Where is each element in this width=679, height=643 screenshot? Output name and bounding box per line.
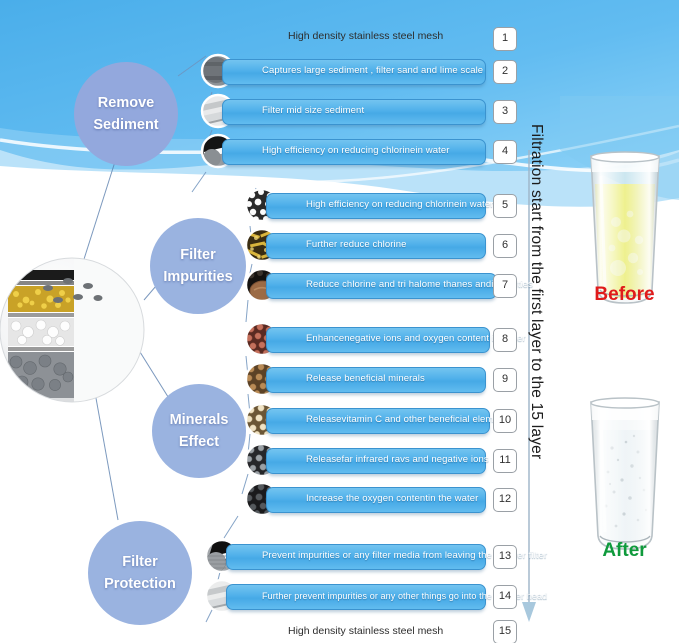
layer-5-number: 5 bbox=[493, 194, 517, 218]
layer-15-number: 15 bbox=[493, 620, 517, 643]
label-before: Before bbox=[570, 284, 679, 306]
layer-row-3[interactable]: Filter mid size sediment bbox=[222, 99, 484, 123]
layer-10-label: Releasevitamin C and other beneficial el… bbox=[306, 408, 512, 432]
layer-row-13[interactable]: Prevent impurities or any filter media f… bbox=[226, 544, 484, 568]
layer-14-number: 14 bbox=[493, 585, 517, 609]
layer-1-label: High density stainless steel mesh bbox=[288, 30, 443, 42]
layer-row-5[interactable]: High efficiency on reducing chlorinein w… bbox=[266, 193, 484, 217]
layer-9-number: 9 bbox=[493, 368, 517, 392]
layer-12-label: Increase the oxygen contentin the water bbox=[306, 487, 478, 511]
layer-3-label: Filter mid size sediment bbox=[262, 99, 364, 123]
layer-row-4[interactable]: High efficiency on reducing chlorinein w… bbox=[222, 139, 484, 163]
layer-9-label: Release beneficial minerals bbox=[306, 367, 425, 391]
infographic-canvas: Remove Sediment Filter Impurities Minera… bbox=[0, 0, 679, 643]
layer-11-label: Releasefar infrared ravs and negative io… bbox=[306, 448, 489, 472]
layer-2-label: Captures large sediment , filter sand an… bbox=[262, 59, 483, 83]
layer-row-8[interactable]: Enhancenegative ions and oxygen content … bbox=[266, 327, 488, 351]
layer-10-number: 10 bbox=[493, 409, 517, 433]
layer-4-number: 4 bbox=[493, 140, 517, 164]
layer-row-10[interactable]: Releasevitamin C and other beneficial el… bbox=[266, 408, 488, 432]
layer-13-number: 13 bbox=[493, 545, 517, 569]
layer-2-number: 2 bbox=[493, 60, 517, 84]
layer-row-7[interactable]: Reduce chlorine and tri halome thanes an… bbox=[266, 273, 495, 297]
label-after: After bbox=[570, 540, 679, 562]
layer-row-11[interactable]: Releasefar infrared ravs and negative io… bbox=[266, 448, 484, 472]
layer-7-number: 7 bbox=[493, 274, 517, 298]
filtration-flow-label: Filtration start from the first layer to… bbox=[527, 124, 545, 459]
layer-8-number: 8 bbox=[493, 328, 517, 352]
layer-4-label: High efficiency on reducing chlorinein w… bbox=[262, 139, 449, 163]
layer-11-number: 11 bbox=[493, 449, 517, 473]
layer-6-number: 6 bbox=[493, 234, 517, 258]
layer-12-number: 12 bbox=[493, 488, 517, 512]
layer-row-14[interactable]: Further prevent impurities or any other … bbox=[226, 584, 484, 608]
layer-3-number: 3 bbox=[493, 100, 517, 124]
layer-row-2[interactable]: Captures large sediment , filter sand an… bbox=[222, 59, 484, 83]
layer-row-6[interactable]: Further reduce chlorine bbox=[266, 233, 484, 257]
layer-6-label: Further reduce chlorine bbox=[306, 233, 407, 257]
layer-row-9[interactable]: Release beneficial minerals bbox=[266, 367, 484, 391]
layer-5-label: High efficiency on reducing chlorinein w… bbox=[306, 193, 493, 217]
layer-1-number: 1 bbox=[493, 27, 517, 51]
layer-row-12[interactable]: Increase the oxygen contentin the water bbox=[266, 487, 484, 511]
layer-15-label: High density stainless steel mesh bbox=[288, 625, 443, 637]
